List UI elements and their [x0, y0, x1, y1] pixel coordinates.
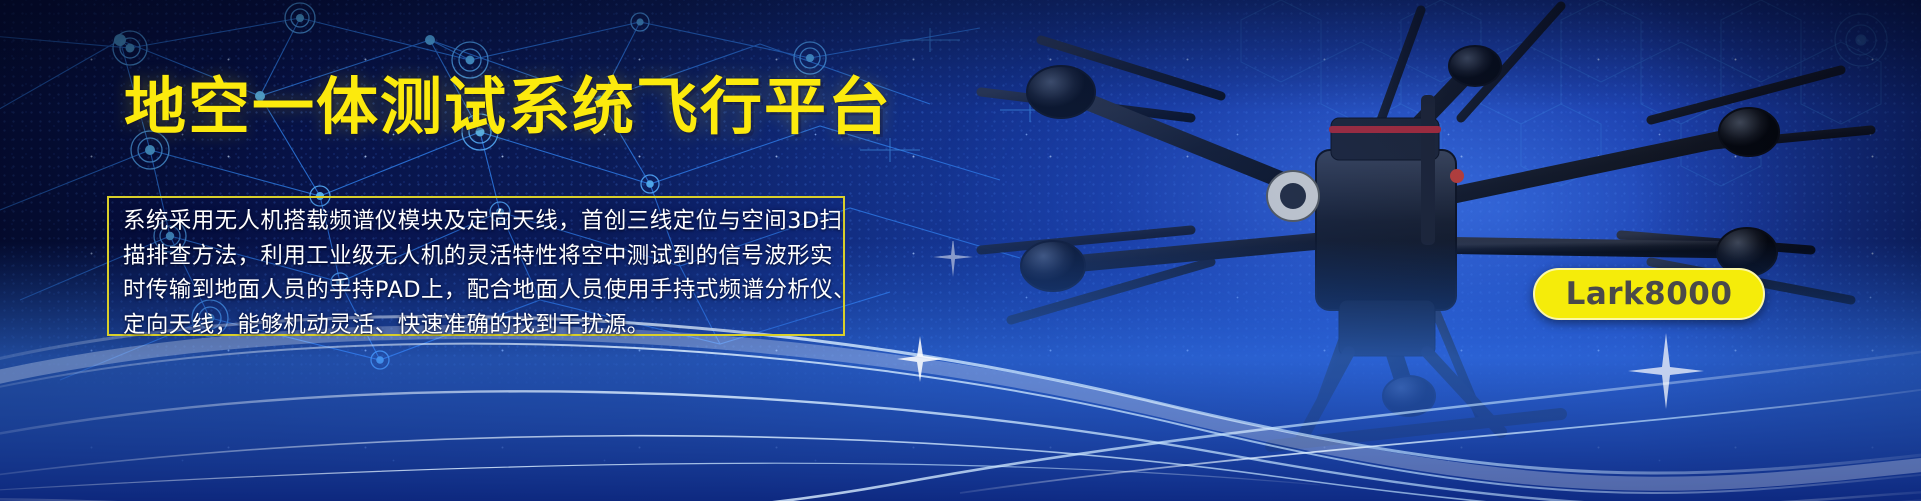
hero-banner: 地空一体测试系统飞行平台 系统采用无人机搭载频谱仪模块及定向天线，首创三线定位与…	[0, 0, 1921, 501]
description-box: 系统采用无人机搭载频谱仪模块及定向天线，首创三线定位与空间3D扫 描排查方法，利…	[107, 196, 845, 336]
description-line-1: 系统采用无人机搭载频谱仪模块及定向天线，首创三线定位与空间3D扫	[123, 204, 829, 239]
description-line-2: 描排查方法，利用工业级无人机的灵活特性将空中测试到的信号波形实	[123, 239, 829, 274]
sparkle-icon	[890, 330, 950, 390]
page-title: 地空一体测试系统飞行平台	[124, 76, 892, 138]
description-line-4: 定向天线，能够机动灵活、快速准确的找到干扰源。	[123, 308, 829, 343]
model-badge-label: Lark8000	[1566, 276, 1733, 312]
model-badge: Lark8000	[1533, 268, 1765, 320]
description-line-3: 时传输到地面人员的手持PAD上，配合地面人员使用手持式频谱分析仪、	[123, 273, 829, 308]
